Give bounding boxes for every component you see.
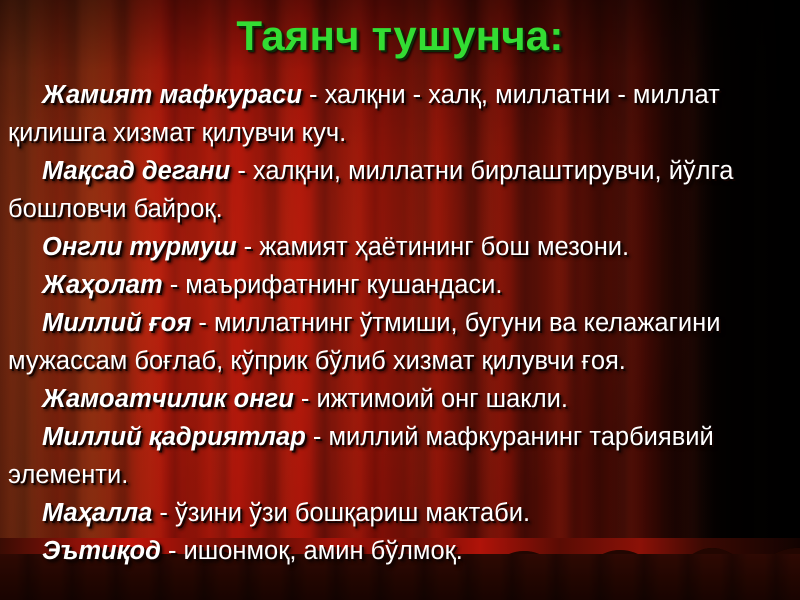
- concept-separator: -: [294, 385, 317, 413]
- concept-definition: маърифатнинг кушандаси.: [185, 271, 502, 299]
- concept-definition: ишонмоқ, амин бўлмоқ.: [184, 537, 463, 565]
- list-item: Жамоатчилик онги - ижтимоий онг шакли.: [8, 380, 752, 418]
- list-item: Маҳалла - ўзини ўзи бошқариш мактаби.: [8, 494, 752, 532]
- concept-separator: -: [230, 157, 253, 185]
- concepts-list: Жамият мафкураси - халқни - халқ, миллат…: [8, 76, 752, 570]
- list-item: Мақсад дегани - халқни, миллатни бирлашт…: [8, 152, 752, 228]
- concept-term: Миллий қадриятлар: [42, 423, 306, 451]
- concept-separator: -: [163, 271, 186, 299]
- concept-definition: ўзини ўзи бошқариш мактаби.: [175, 499, 530, 527]
- list-item: Жаҳолат - маърифатнинг кушандаси.: [8, 266, 752, 304]
- list-item: Жамият мафкураси - халқни - халқ, миллат…: [8, 76, 752, 152]
- concept-term: Онгли турмуш: [42, 233, 237, 261]
- concept-definition: жамият ҳаётининг бош мезони.: [259, 233, 629, 261]
- list-item: Миллий ғоя - миллатнинг ўтмиши, бугуни в…: [8, 304, 752, 380]
- concept-term: Миллий ғоя: [42, 309, 191, 337]
- concept-term: Мақсад дегани: [42, 157, 230, 185]
- concept-definition: ижтимоий онг шакли.: [316, 385, 567, 413]
- presentation-slide: Таянч тушунча: Жамият мафкураси - халқни…: [0, 0, 800, 600]
- page-title: Таянч тушунча:: [0, 12, 800, 60]
- concept-separator: -: [191, 309, 214, 337]
- concept-term: Жамоатчилик онги: [42, 385, 294, 413]
- concept-term: Жамият мафкураси: [42, 81, 302, 109]
- concept-term: Жаҳолат: [42, 271, 163, 299]
- slide-content: Таянч тушунча: Жамият мафкураси - халқни…: [0, 0, 800, 600]
- concept-term: Эътиқод: [42, 537, 161, 565]
- list-item: Онгли турмуш - жамият ҳаётининг бош мезо…: [8, 228, 752, 266]
- list-item: Миллий қадриятлар - миллий мафкуранинг т…: [8, 418, 752, 494]
- concept-separator: -: [152, 499, 175, 527]
- concept-separator: -: [237, 233, 260, 261]
- concept-separator: -: [302, 81, 325, 109]
- concept-term: Маҳалла: [42, 499, 152, 527]
- list-item: Эътиқод - ишонмоқ, амин бўлмоқ.: [8, 532, 752, 570]
- concept-separator: -: [306, 423, 329, 451]
- concept-separator: -: [161, 537, 184, 565]
